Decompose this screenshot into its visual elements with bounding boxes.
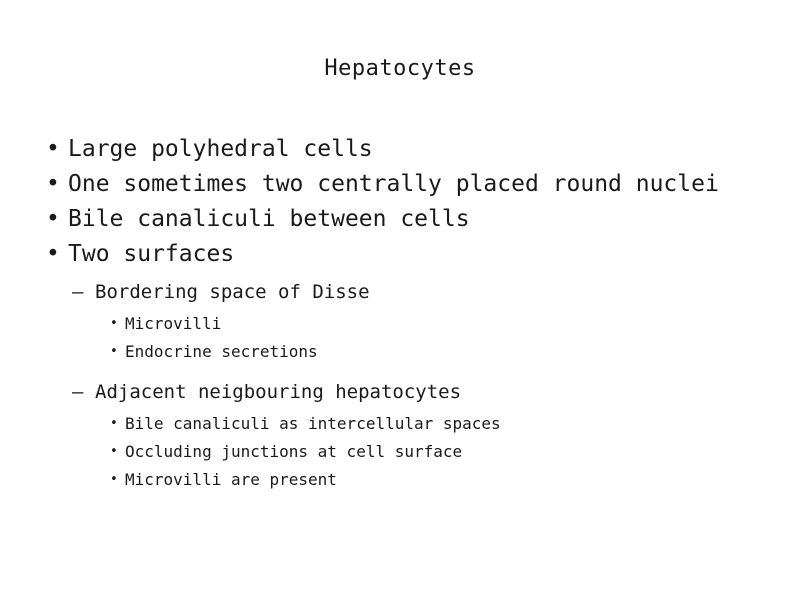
bullet-item-level3: • Microvilli are present: [0, 466, 800, 494]
bullet-item-level3: • Endocrine secretions: [0, 338, 800, 366]
sub-bullet-group: – Adjacent neigbouring hepatocytes • Bil…: [0, 376, 800, 494]
bullet-marker-icon: •: [110, 466, 118, 494]
bullet-item-level3: • Occluding junctions at cell surface: [0, 438, 800, 466]
page-title: Hepatocytes: [0, 56, 800, 82]
dash-marker-icon: –: [72, 276, 83, 308]
bullet-text: Bile canaliculi as intercellular spaces: [125, 414, 501, 433]
bullet-marker-icon: •: [110, 438, 118, 466]
bullet-item-level2: – Bordering space of Disse: [0, 276, 800, 308]
bullet-marker-icon: •: [46, 132, 60, 167]
bullet-item-level3: • Bile canaliculi as intercellular space…: [0, 410, 800, 438]
bullet-marker-icon: •: [46, 167, 60, 202]
bullet-text: Bile canaliculi between cells: [68, 206, 470, 232]
bullet-text: Occluding junctions at cell surface: [125, 442, 462, 461]
bullet-text: Microvilli are present: [125, 470, 337, 489]
bullet-text: Two surfaces: [68, 241, 234, 267]
bullet-item-level3: • Microvilli: [0, 310, 800, 338]
bullet-text: Bordering space of Disse: [95, 281, 370, 303]
slide-body: • Large polyhedral cells • One sometimes…: [0, 132, 800, 494]
bullet-text: One sometimes two centrally placed round…: [68, 171, 719, 197]
bullet-marker-icon: •: [110, 338, 118, 366]
presentation-slide: Hepatocytes • Large polyhedral cells • O…: [0, 0, 800, 600]
bullet-marker-icon: •: [110, 310, 118, 338]
bullet-text: Endocrine secretions: [125, 342, 318, 361]
sub-sub-bullet-group: • Bile canaliculi as intercellular space…: [0, 410, 800, 494]
bullet-item-level1: • Two surfaces: [0, 237, 800, 272]
bullet-item-level1: • Large polyhedral cells: [0, 132, 800, 167]
bullet-text: Large polyhedral cells: [68, 136, 373, 162]
bullet-text: Adjacent neigbouring hepatocytes: [95, 381, 461, 403]
bullet-marker-icon: •: [46, 202, 60, 237]
sub-bullet-group: – Bordering space of Disse • Microvilli …: [0, 276, 800, 366]
bullet-item-level2: – Adjacent neigbouring hepatocytes: [0, 376, 800, 408]
bullet-item-level1: • Bile canaliculi between cells: [0, 202, 800, 237]
bullet-text: Microvilli: [125, 314, 221, 333]
bullet-marker-icon: •: [110, 410, 118, 438]
bullet-marker-icon: •: [46, 237, 60, 272]
dash-marker-icon: –: [72, 376, 83, 408]
bullet-item-level1: • One sometimes two centrally placed rou…: [0, 167, 800, 202]
sub-sub-bullet-group: • Microvilli • Endocrine secretions: [0, 310, 800, 366]
